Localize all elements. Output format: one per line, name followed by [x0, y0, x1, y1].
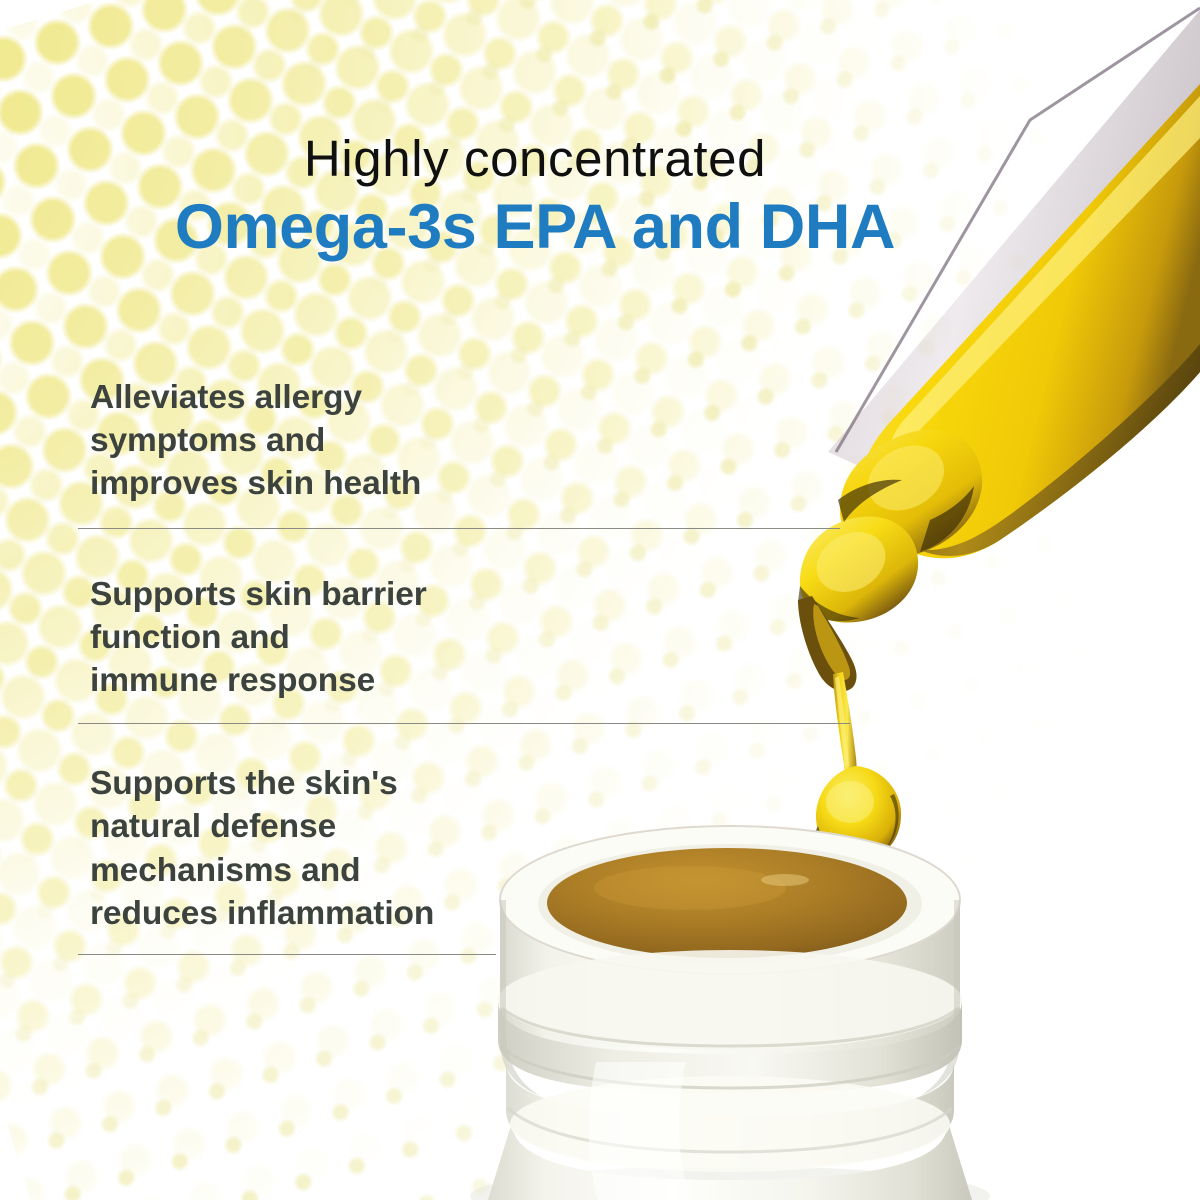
benefit-divider-1 [78, 528, 840, 529]
benefit-item-1: Alleviates allergy symptoms and improves… [90, 376, 860, 529]
kicker-text: Highly concentrated [0, 132, 1070, 186]
benefit-item-2: Supports skin barrier function and immun… [90, 573, 860, 725]
benefit-text-3: Supports the skin's natural defense mech… [90, 762, 860, 935]
benefit-divider-2 [78, 723, 850, 724]
headline-text: Omega-3s EPA and DHA [0, 194, 1070, 261]
benefit-list: Alleviates allergy symptoms and improves… [90, 376, 860, 955]
benefit-item-3: Supports the skin's natural defense mech… [90, 762, 860, 955]
infographic-canvas: Highly concentrated Omega-3s EPA and DHA… [0, 0, 1200, 1200]
benefit-text-1: Alleviates allergy symptoms and improves… [90, 376, 860, 506]
heading-block: Highly concentrated Omega-3s EPA and DHA [0, 132, 1070, 261]
benefit-divider-3 [78, 954, 496, 955]
benefit-text-2: Supports skin barrier function and immun… [90, 573, 860, 703]
